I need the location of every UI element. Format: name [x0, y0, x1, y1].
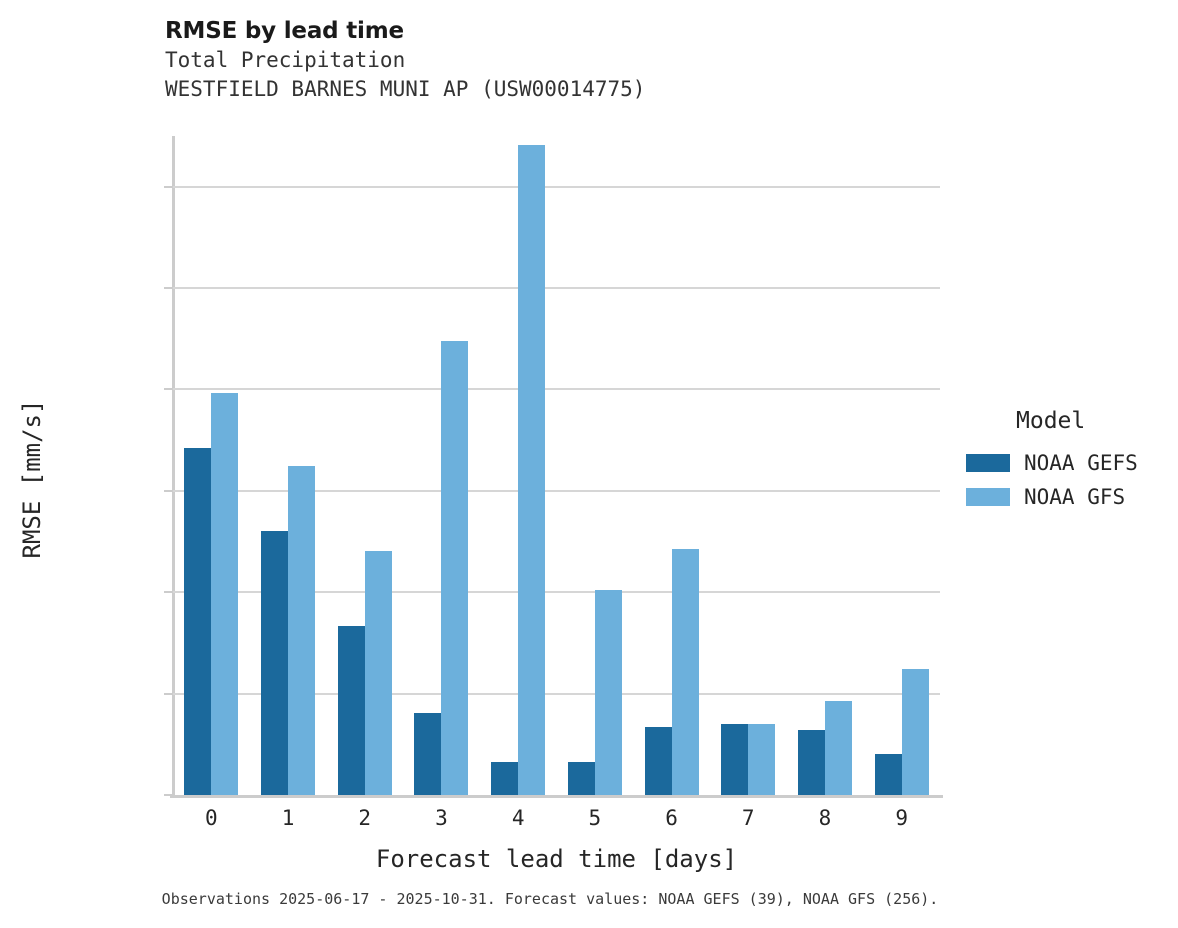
legend-item[interactable]: NOAA GEFS	[966, 446, 1176, 480]
bar[interactable]	[645, 727, 672, 795]
chart-subtitle-variable: Total Precipitation	[165, 46, 925, 75]
y-axis-tick	[164, 388, 173, 390]
legend-item-label: NOAA GEFS	[1024, 451, 1138, 475]
footer-note: Observations 2025-06-17 - 2025-10-31. Fo…	[0, 890, 1100, 908]
plot-area	[173, 136, 940, 795]
gridline	[173, 388, 940, 390]
bar[interactable]	[441, 341, 468, 795]
x-axis-tick-label: 0	[191, 806, 231, 830]
bar[interactable]	[518, 145, 545, 795]
x-axis-spine	[170, 795, 943, 798]
chart-figure: RMSE by lead time Total Precipitation WE…	[0, 0, 1178, 928]
title-block: RMSE by lead time Total Precipitation WE…	[165, 16, 925, 104]
x-axis-tick-label: 2	[345, 806, 385, 830]
bar[interactable]	[414, 713, 441, 795]
x-axis-tick-label: 9	[882, 806, 922, 830]
bar[interactable]	[825, 701, 852, 795]
y-axis-tick	[164, 693, 173, 695]
bar[interactable]	[721, 724, 748, 795]
y-axis-tick	[164, 490, 173, 492]
x-axis-tick-label: 7	[728, 806, 768, 830]
x-axis-title: Forecast lead time [days]	[173, 845, 940, 873]
chart-subtitle-station: WESTFIELD BARNES MUNI AP (USW00014775)	[165, 75, 925, 104]
legend-item-label: NOAA GFS	[1024, 485, 1125, 509]
y-axis-spine	[172, 136, 175, 795]
y-axis-tick	[164, 186, 173, 188]
bar[interactable]	[672, 549, 699, 795]
bar[interactable]	[568, 762, 595, 795]
bar[interactable]	[748, 724, 775, 795]
legend-swatch-icon	[966, 454, 1010, 472]
x-axis-tick-label: 1	[268, 806, 308, 830]
y-axis-tick	[164, 287, 173, 289]
bar[interactable]	[261, 531, 288, 795]
bar[interactable]	[491, 762, 518, 795]
bar[interactable]	[798, 730, 825, 795]
bar[interactable]	[211, 393, 238, 795]
x-axis-tick-label: 3	[421, 806, 461, 830]
bar[interactable]	[184, 448, 211, 795]
bar[interactable]	[365, 551, 392, 795]
legend-swatch-icon	[966, 488, 1010, 506]
y-axis-tick	[164, 794, 173, 796]
bar[interactable]	[902, 669, 929, 795]
bar[interactable]	[288, 466, 315, 796]
x-axis-tick-label: 5	[575, 806, 615, 830]
bar[interactable]	[595, 590, 622, 795]
y-axis-tick	[164, 591, 173, 593]
bar[interactable]	[875, 754, 902, 795]
legend-title: Model	[1016, 408, 1176, 434]
x-axis-tick-label: 8	[805, 806, 845, 830]
gridline	[173, 287, 940, 289]
legend-entries: NOAA GEFSNOAA GFS	[966, 446, 1176, 514]
x-axis-tick-label: 4	[498, 806, 538, 830]
bar[interactable]	[338, 626, 365, 795]
y-axis-title: RMSE [mm/s]	[18, 379, 46, 579]
legend: Model NOAA GEFSNOAA GFS	[966, 408, 1176, 514]
legend-item[interactable]: NOAA GFS	[966, 480, 1176, 514]
x-axis-tick-label: 6	[652, 806, 692, 830]
gridline	[173, 186, 940, 188]
chart-title: RMSE by lead time	[165, 16, 925, 46]
